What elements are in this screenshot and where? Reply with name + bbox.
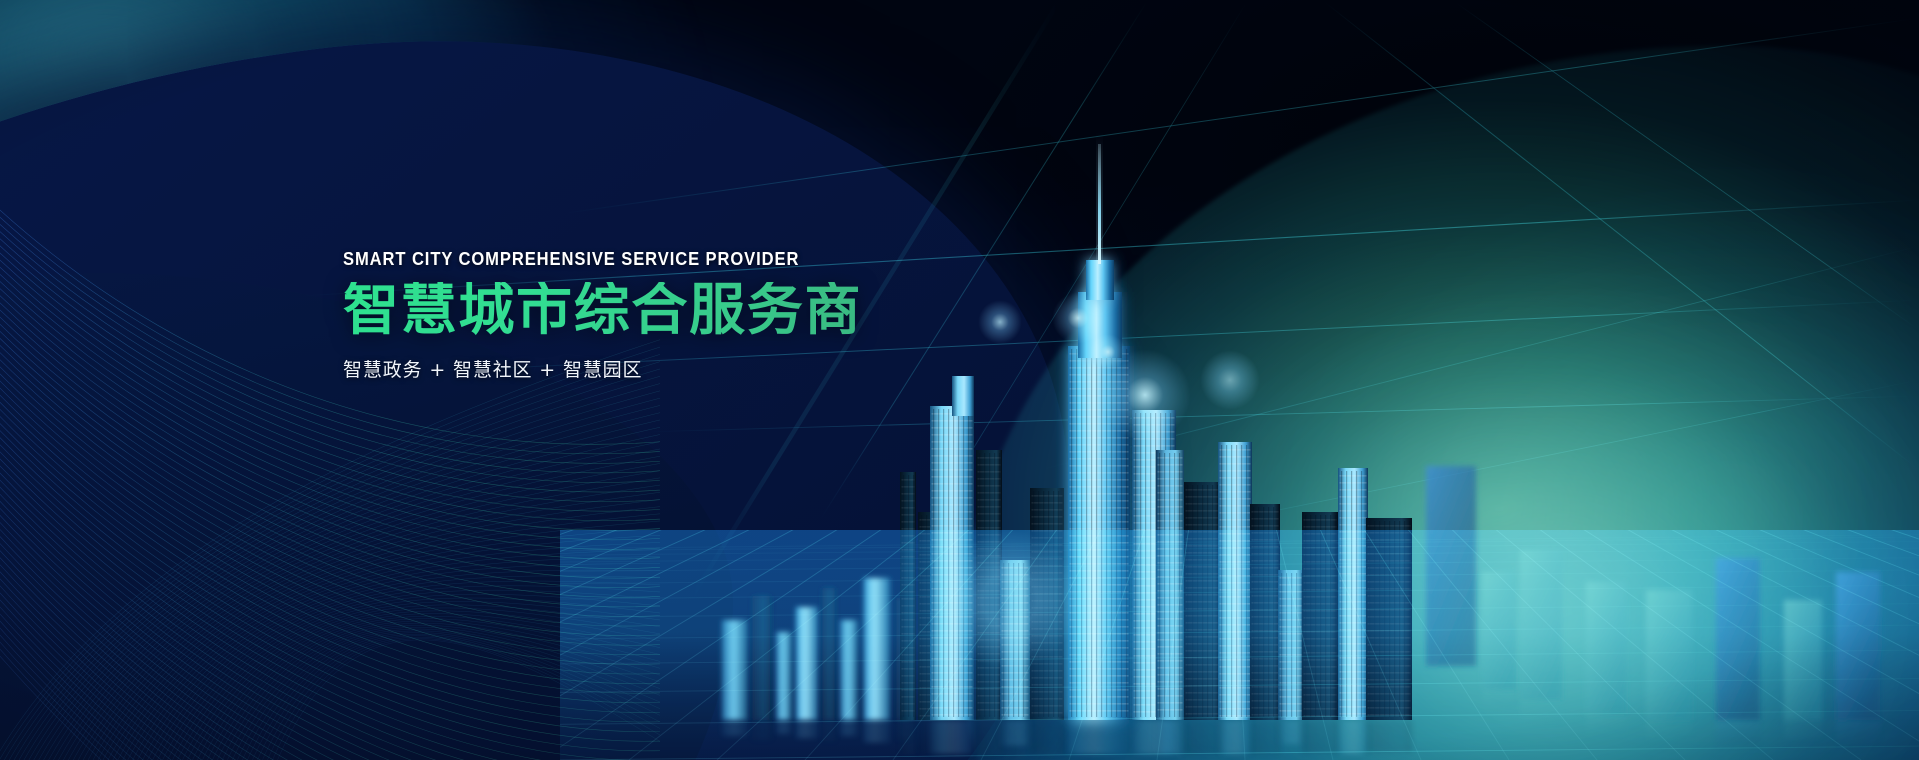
hero-copy-block: SMART CITY COMPREHENSIVE SERVICE PROVIDE… <box>343 250 1063 382</box>
subtitle-text: 智慧政务 + 智慧社区 + 智慧园区 <box>343 359 1063 382</box>
headline-text: 智慧城市综合服务商 <box>343 282 1063 341</box>
eyebrow-text: SMART CITY COMPREHENSIVE SERVICE PROVIDE… <box>343 250 1005 268</box>
smart-city-banner: SMART CITY COMPREHENSIVE SERVICE PROVIDE… <box>0 0 1919 760</box>
